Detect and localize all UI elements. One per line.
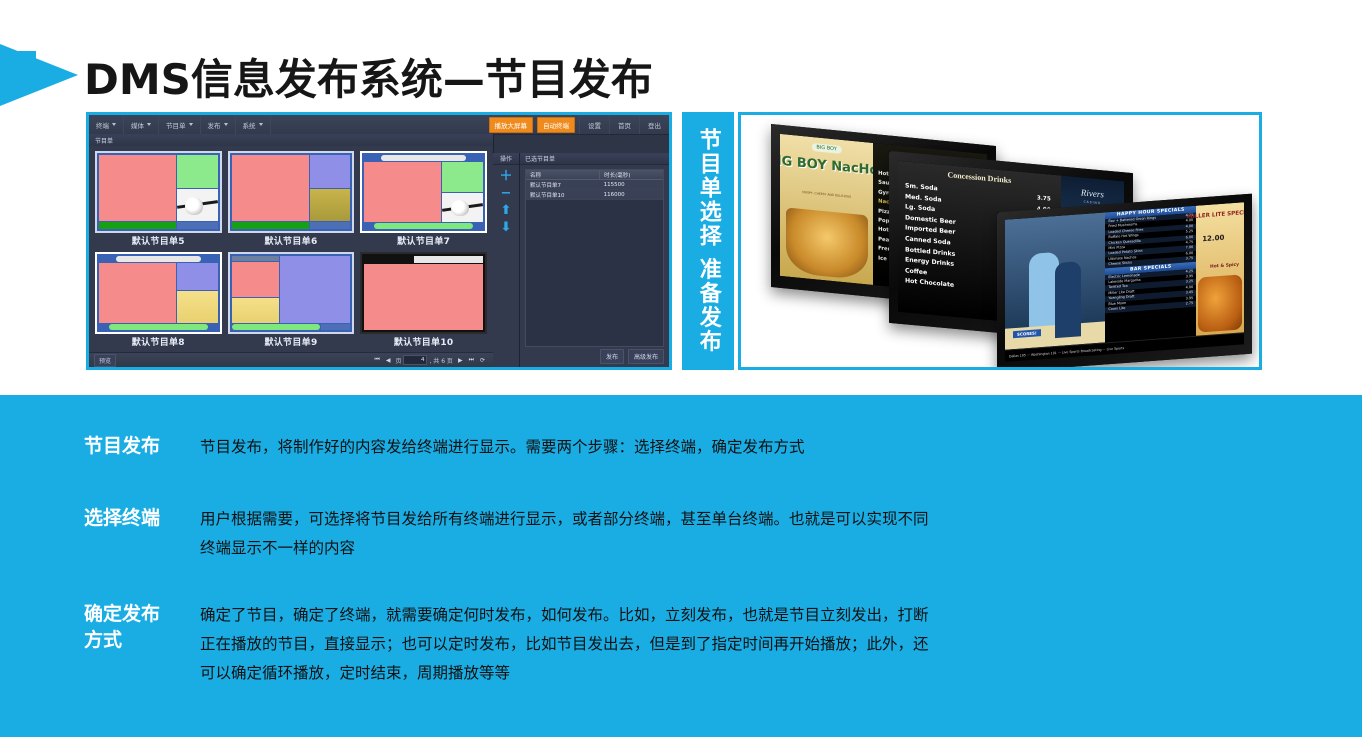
tv3-spicy-label: Hot & Spicy	[1210, 262, 1239, 269]
zone-text	[280, 256, 351, 323]
zone-ticker	[232, 256, 279, 261]
description-row: 选择终端 用户根据需要，可选择将节目发给所有终端进行显示，或者部分终端，甚至单台…	[0, 505, 1362, 563]
zone-video	[364, 162, 441, 222]
move-up-icon[interactable]: ⬆	[501, 205, 512, 216]
tv3-wings-image	[1198, 275, 1242, 333]
first-page-icon[interactable]: ⏮	[371, 356, 382, 364]
home-button[interactable]: 首页	[609, 115, 639, 134]
zone-image	[177, 189, 218, 222]
row-key-line: 确定发布	[84, 601, 200, 627]
thumbnail-preview[interactable]	[228, 252, 355, 334]
description-panel: 节目发布 节目发布，将制作好的内容发给终端进行显示。需要两个步骤：选择终端，确定…	[0, 395, 1362, 737]
next-page-icon[interactable]: ▶	[455, 357, 466, 364]
thumbnail-layout	[232, 155, 351, 229]
cell-name: 默认节目单7	[526, 180, 600, 189]
cell-name: 默认节目单10	[526, 190, 600, 199]
preview-button[interactable]: 预览	[94, 354, 116, 367]
tv1-food-image	[786, 207, 868, 280]
row-body-line: 可以确定循环播放，定时结束，周期播放等等	[200, 659, 1322, 688]
zone-ticker	[414, 256, 483, 263]
row-key-label: 节目发布	[0, 433, 200, 462]
title-band: DMS信息发布系统—节目发布	[0, 20, 1362, 98]
column-header-name: 名称	[526, 170, 600, 179]
selected-playlist-header: 已选节目单	[520, 153, 669, 165]
zone-banner	[109, 324, 209, 330]
zone-weather	[177, 291, 218, 323]
thumbnail-preview[interactable]	[360, 252, 487, 334]
cell-duration: 116000	[600, 190, 663, 199]
playlist-thumbnail-item[interactable]: 默认节目单10	[360, 252, 487, 348]
operations-column: 操作 ＋ − ⬆ ⬇	[493, 153, 520, 367]
menu-item-terminal[interactable]: 终端	[89, 115, 124, 134]
dms-application-window: 终端 媒体 节目单 发布 系统	[89, 115, 669, 367]
row-key-label: 选择终端	[0, 505, 200, 563]
row-body-line: 终端显示不一样的内容	[200, 534, 1322, 563]
menu-item-publish[interactable]: 发布	[201, 115, 236, 134]
publish-button[interactable]: 发布	[600, 349, 624, 364]
menu-item-playlist[interactable]: 节目单	[159, 115, 201, 134]
selected-playlist-column: 已选节目单 名称 时长(毫秒) 默认节目单7 115500 默认	[520, 153, 669, 367]
thumbnail-layout	[99, 155, 218, 229]
playlist-thumbnail-grid: 默认节目单5	[89, 146, 493, 353]
thumbnail-layout	[232, 256, 351, 330]
description-row: 节目发布 节目发布，将制作好的内容发给终端进行显示。需要两个步骤：选择终端，确定…	[0, 433, 1362, 462]
zone-text	[177, 263, 218, 290]
zone-text	[310, 155, 351, 188]
tv3-main: SCORES! HAPPY HOUR SPECIALS Bav + Batter…	[1005, 202, 1244, 350]
menu-item-media[interactable]: 媒体	[124, 115, 159, 134]
thumbnail-label: 默认节目单6	[228, 233, 355, 247]
zone-banner	[232, 222, 309, 229]
screens-row: 终端 媒体 节目单 发布 系统	[0, 112, 1362, 374]
chevron-down-icon	[112, 123, 116, 126]
row-key-line: 方式	[84, 627, 200, 653]
page-word-label: 页	[393, 356, 403, 365]
zone-subtitle	[321, 324, 350, 330]
thumbnail-label: 默认节目单10	[360, 334, 487, 348]
tv3-hockey-photo: SCORES!	[1005, 212, 1105, 349]
zone-video	[99, 263, 176, 323]
chevron-down-icon	[224, 123, 228, 126]
tv-screen: SCORES! HAPPY HOUR SPECIALS Bav + Batter…	[1005, 202, 1244, 362]
description-row: 确定发布 方式 确定了节目，确定了终端，就需要确定何时发布，如何发布。比如，立刻…	[0, 601, 1362, 688]
zone-video	[232, 262, 279, 297]
vertical-caption: 节目单选择 准备发布	[682, 112, 734, 370]
thumbnail-layout	[99, 256, 218, 330]
row-body-line: 确定了节目，确定了终端，就需要确定何时发布，如何发布。比如，立刻发布，也就是节目…	[200, 601, 1322, 630]
operations-header: 操作	[493, 153, 519, 165]
thumbnail-layout	[364, 155, 483, 229]
zone-subtitle	[177, 222, 218, 229]
menu-item-label: 终端	[96, 120, 109, 130]
zone-video	[99, 155, 176, 221]
tv2-logo: Rivers	[1081, 187, 1104, 199]
thumbnail-preview[interactable]	[228, 151, 355, 233]
thumbnail-label: 默认节目单5	[95, 233, 222, 247]
tv1-brand-sub: CRISPY, CHEESY AND DELICIOUS	[802, 190, 851, 199]
selection-pane: 操作 ＋ − ⬆ ⬇ 已选节目单 名称 时长(毫秒)	[493, 153, 669, 367]
playlist-thumbnail-item[interactable]: 默认节目单5	[95, 151, 222, 247]
item-name: Coors Lite	[1108, 306, 1125, 313]
chevron-down-icon	[259, 123, 263, 126]
settings-button[interactable]: 设置	[579, 115, 609, 134]
tv3-happy-hour-list: Bav + Battered Onion Rings4.25 Fried Mus…	[1105, 213, 1196, 268]
thumbnail-preview-selected[interactable]	[95, 252, 222, 334]
remove-icon[interactable]: −	[501, 188, 512, 199]
tv-display-3: SCORES! HAPPY HOUR SPECIALS Bav + Batter…	[997, 194, 1252, 370]
tv3-specials-panel: HAPPY HOUR SPECIALS Bav + Battered Onion…	[1105, 206, 1196, 343]
app-menubar: 终端 媒体 节目单 发布 系统	[89, 115, 669, 135]
zone-banner	[232, 324, 320, 330]
item-price: 2.75	[1186, 301, 1194, 307]
zone-weather	[310, 189, 351, 222]
row-body-line: 节目发布，将制作好的内容发给终端进行显示。需要两个步骤：选择终端，确定发布方式	[200, 433, 1322, 462]
thumbnail-layout	[364, 256, 483, 330]
table-header-row: 名称 时长(毫秒)	[526, 170, 663, 180]
tv1-brand-panel: BIG BOY BIG BOY NacHos CRISPY, CHEESY AN…	[780, 134, 873, 285]
row-body-line: 正在播放的节目，直接显示；也可以定时发布，比如节目发出去，但是到了指定时间再开始…	[200, 630, 1322, 659]
row-body: 确定了节目，确定了终端，就需要确定何时发布，如何发布。比如，立刻发布，也就是节目…	[200, 601, 1362, 688]
playlist-thumbnail-item[interactable]: 默认节目单9	[228, 252, 355, 348]
publish-actions: 发布 高级发布	[600, 349, 664, 364]
tv3-miller-price: 12.00	[1202, 234, 1224, 244]
title-arrow-icon	[0, 44, 78, 106]
add-icon[interactable]: ＋	[499, 171, 512, 182]
app-screenshot-card: 终端 媒体 节目单 发布 系统	[86, 112, 672, 370]
tv2-price: 3.75	[1037, 193, 1051, 205]
tv1-logo: BIG BOY	[811, 143, 841, 154]
prev-page-icon[interactable]: ◀	[383, 357, 394, 364]
tv3-miller-title: MILLER LITE SPECIAL	[1187, 210, 1244, 221]
zone-video	[232, 155, 309, 221]
playlist-thumbnail-item[interactable]: 默认节目单6	[228, 151, 355, 247]
zone-text	[442, 162, 483, 192]
cell-duration: 115500	[600, 180, 663, 189]
item-price: 3.75	[1186, 256, 1194, 262]
zone-ticker	[116, 256, 201, 262]
row-body: 节目发布，将制作好的内容发给终端进行显示。需要两个步骤：选择终端，确定发布方式	[200, 433, 1362, 462]
thumbnail-label: 默认节目单7	[360, 233, 487, 247]
auto-terminal-button[interactable]: 自动终端	[537, 117, 575, 133]
zone-video	[364, 264, 483, 330]
row-body: 用户根据需要，可选择将节目发给所有终端进行显示，或者部分终端，甚至单台终端。也就…	[200, 505, 1362, 563]
zone-banner	[374, 223, 474, 229]
advanced-publish-button[interactable]: 高级发布	[628, 349, 664, 364]
playlist-thumbnail-item[interactable]: 默认节目单7	[360, 151, 487, 247]
page-title: DMS信息发布系统—节目发布	[84, 46, 653, 107]
zone-weather	[232, 298, 279, 323]
menu-item-label: 节目单	[166, 120, 186, 130]
zone-image	[442, 193, 483, 223]
playlist-pager: 预览 ⏮ ◀ 页 4 , 共 6 页 ▶ ⏭ ⟳	[89, 352, 493, 367]
zone-text	[177, 155, 218, 188]
menu-item-label: 系统	[243, 120, 256, 130]
logout-button[interactable]: 登出	[639, 115, 669, 134]
thumbnail-preview-selected[interactable]	[360, 151, 487, 233]
thumbnail-label: 默认节目单9	[228, 334, 355, 348]
broadcast-big-screen-button[interactable]: 播放大屏幕	[489, 117, 534, 133]
chevron-down-icon	[189, 123, 193, 126]
tv1-brand-title: BIG BOY NacHos	[780, 155, 886, 179]
chevron-down-icon	[147, 123, 151, 126]
page-number-input[interactable]: 4	[403, 355, 427, 365]
playlist-pane: 节目单	[89, 134, 494, 367]
menu-item-label: 发布	[208, 120, 221, 130]
menu-item-system[interactable]: 系统	[236, 115, 271, 134]
zone-ticker	[381, 155, 466, 161]
row-key-label: 确定发布 方式	[0, 601, 200, 688]
last-page-icon[interactable]: ⏭	[466, 356, 477, 364]
table-row[interactable]: 默认节目单10 116000	[526, 190, 663, 200]
zone-subtitle	[310, 222, 351, 229]
move-down-icon[interactable]: ⬇	[501, 222, 512, 233]
tv3-promo-panel: MILLER LITE SPECIAL 12.00 Hot & Spicy	[1196, 202, 1244, 336]
tv2-menu-list: Sm. Soda Med. Soda Lg. Soda Domestic Bee…	[905, 181, 956, 292]
row-body-line: 用户根据需要，可选择将节目发给所有终端进行显示，或者部分终端，甚至单台终端。也就…	[200, 505, 1322, 534]
total-pages-label: , 共 6 页	[427, 356, 454, 365]
playlist-thumbnail-item[interactable]: 默认节目单8	[95, 252, 222, 348]
menu-item-label: 媒体	[131, 120, 144, 130]
digital-signage-photo-card: BIG BOY BIG BOY NacHos CRISPY, CHEESY AN…	[738, 112, 1262, 370]
app-body: 节目单	[89, 134, 669, 367]
zone-banner	[99, 222, 176, 229]
column-header-duration: 时长(毫秒)	[600, 170, 663, 179]
selected-playlist-table: 名称 时长(毫秒) 默认节目单7 115500 默认节目单10 116000	[525, 169, 664, 347]
thumbnail-label: 默认节目单8	[95, 334, 222, 348]
tv3-bar-specials-list: Electric Lemonade4.25 Lakeside Margarita…	[1105, 268, 1196, 313]
refresh-icon[interactable]: ⟳	[477, 357, 488, 364]
vertical-caption-text: 节目单选择 准备发布	[694, 128, 722, 354]
thumbnail-preview[interactable]	[95, 151, 222, 233]
table-row[interactable]: 默认节目单7 115500	[526, 180, 663, 190]
